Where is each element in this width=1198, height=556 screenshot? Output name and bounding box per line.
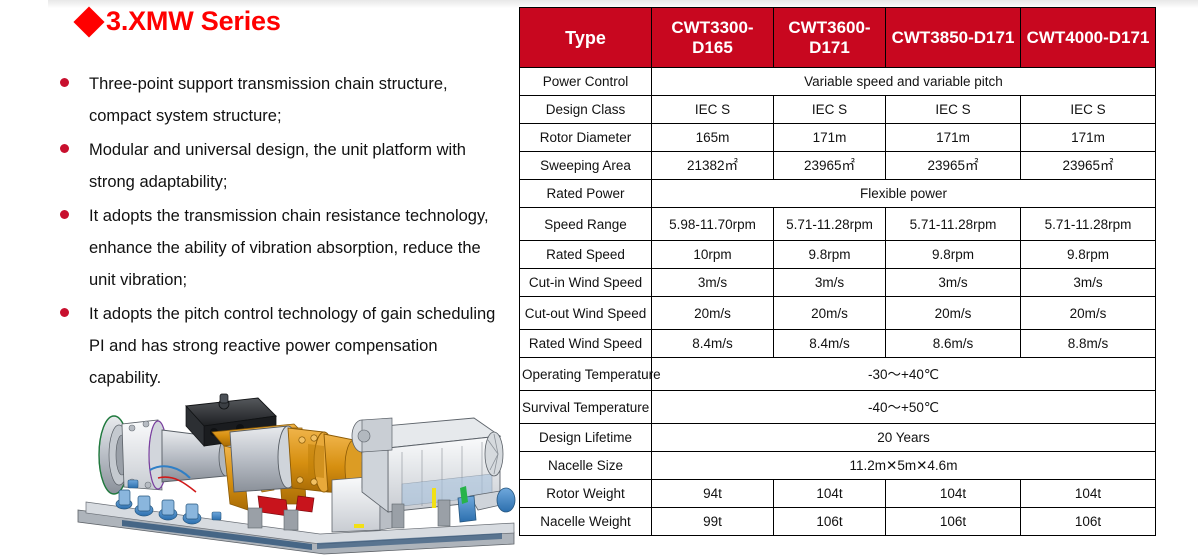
table-row: Rotor Weight 94t 104t 104t 104t	[520, 480, 1156, 508]
row-label-rated-speed: Rated Speed	[520, 241, 652, 269]
cell: IEC S	[652, 96, 774, 124]
cell: 171m	[774, 124, 886, 152]
row-label-cut-out-wind-speed: Cut-out Wind Speed	[520, 297, 652, 330]
row-value-operating-temperature: -30～+40℃	[652, 358, 1156, 391]
cell: 104t	[886, 480, 1021, 508]
row-label-survival-temperature: Survival Temperature	[520, 391, 652, 424]
cell: IEC S	[774, 96, 886, 124]
cell: 8.4m/s	[774, 330, 886, 358]
row-value-power-control: Variable speed and variable pitch	[652, 68, 1156, 96]
cell: 20m/s	[1021, 297, 1156, 330]
table-row: Rated Wind Speed 8.4m/s 8.4m/s 8.6m/s 8.…	[520, 330, 1156, 358]
list-item-label: It adopts the pitch control technology o…	[89, 298, 504, 394]
cell: 20m/s	[886, 297, 1021, 330]
row-label-nacelle-weight: Nacelle Weight	[520, 508, 652, 536]
cell: 8.6m/s	[886, 330, 1021, 358]
column-header-cwt3600: CWT3600-D171	[774, 8, 886, 68]
cell: 104t	[774, 480, 886, 508]
cell: 165m	[652, 124, 774, 152]
cell: 171m	[886, 124, 1021, 152]
list-item: Three-point support transmission chain s…	[60, 68, 510, 132]
cell: 9.8rpm	[886, 241, 1021, 269]
cell: 3m/s	[886, 269, 1021, 297]
left-content-panel: 3.XMW Series Three-point support transmi…	[0, 0, 516, 556]
row-value-nacelle-size: 11.2m✕5m✕4.6m	[652, 452, 1156, 480]
slide-root: 3.XMW Series Three-point support transmi…	[0, 0, 1198, 556]
table-row: Nacelle Weight 99t 106t 106t 106t	[520, 508, 1156, 536]
table-row: Power Control Variable speed and variabl…	[520, 68, 1156, 96]
list-item-label: It adopts the transmission chain resista…	[89, 200, 504, 296]
column-header-cwt3850: CWT3850-D171	[886, 8, 1021, 68]
table-row: Cut-out Wind Speed 20m/s 20m/s 20m/s 20m…	[520, 297, 1156, 330]
table-row: Operating Temperature -30～+40℃	[520, 358, 1156, 391]
diamond-bullet-icon	[73, 6, 104, 37]
specification-table-wrapper: Type CWT3300-D165 CWT3600-D171 CWT3850-D…	[519, 7, 1155, 536]
cell: 5.71-11.28rpm	[774, 208, 886, 241]
cell: 99t	[652, 508, 774, 536]
table-row: Survival Temperature -40～+50℃	[520, 391, 1156, 424]
table-header-row: Type CWT3300-D165 CWT3600-D171 CWT3850-D…	[520, 8, 1156, 68]
column-header-cwt3300: CWT3300-D165	[652, 8, 774, 68]
cell: 104t	[1021, 480, 1156, 508]
bullet-dot-icon	[60, 210, 69, 219]
list-item: It adopts the pitch control technology o…	[60, 298, 510, 394]
page-title: 3.XMW Series	[78, 8, 281, 35]
table-row: Rotor Diameter 165m 171m 171m 171m	[520, 124, 1156, 152]
table-row: Rated Speed 10rpm 9.8rpm 9.8rpm 9.8rpm	[520, 241, 1156, 269]
cell: 23965㎡	[774, 152, 886, 180]
cell: 5.71-11.28rpm	[886, 208, 1021, 241]
cell: IEC S	[886, 96, 1021, 124]
cell: 106t	[1021, 508, 1156, 536]
table-row: Cut-in Wind Speed 3m/s 3m/s 3m/s 3m/s	[520, 269, 1156, 297]
table-row: Design Class IEC S IEC S IEC S IEC S	[520, 96, 1156, 124]
row-label-design-class: Design Class	[520, 96, 652, 124]
cell: 5.71-11.28rpm	[1021, 208, 1156, 241]
row-label-rated-wind-speed: Rated Wind Speed	[520, 330, 652, 358]
row-value-design-lifetime: 20 Years	[652, 424, 1156, 452]
feature-bullet-list: Three-point support transmission chain s…	[60, 68, 510, 396]
cell: 106t	[886, 508, 1021, 536]
cell: 10rpm	[652, 241, 774, 269]
row-label-design-lifetime: Design Lifetime	[520, 424, 652, 452]
row-label-nacelle-size: Nacelle Size	[520, 452, 652, 480]
cell: 5.98-11.70rpm	[652, 208, 774, 241]
cell: 8.8m/s	[1021, 330, 1156, 358]
cell: 94t	[652, 480, 774, 508]
cell: 171m	[1021, 124, 1156, 152]
table-row: Sweeping Area 21382㎡ 23965㎡ 23965㎡ 23965…	[520, 152, 1156, 180]
row-value-survival-temperature: -40～+50℃	[652, 391, 1156, 424]
table-row: Nacelle Size 11.2m✕5m✕4.6m	[520, 452, 1156, 480]
row-label-rotor-diameter: Rotor Diameter	[520, 124, 652, 152]
nacelle-drivetrain-image	[62, 392, 524, 556]
row-label-speed-range: Speed Range	[520, 208, 652, 241]
column-header-cwt4000: CWT4000-D171	[1021, 8, 1156, 68]
cell: 20m/s	[774, 297, 886, 330]
cell: 106t	[774, 508, 886, 536]
row-label-sweeping-area: Sweeping Area	[520, 152, 652, 180]
row-label-operating-temperature: Operating Temperature	[520, 358, 652, 391]
list-item: It adopts the transmission chain resista…	[60, 200, 510, 296]
list-item: Modular and universal design, the unit p…	[60, 134, 510, 198]
cell: 9.8rpm	[774, 241, 886, 269]
cell: 8.4m/s	[652, 330, 774, 358]
table-row: Speed Range 5.98-11.70rpm 5.71-11.28rpm …	[520, 208, 1156, 241]
cell: 3m/s	[774, 269, 886, 297]
cell: 9.8rpm	[1021, 241, 1156, 269]
bullet-dot-icon	[60, 78, 69, 87]
cell: 20m/s	[652, 297, 774, 330]
cell: 23965㎡	[1021, 152, 1156, 180]
page-title-label: 3.XMW Series	[106, 8, 281, 35]
cell: 3m/s	[652, 269, 774, 297]
cell: 23965㎡	[886, 152, 1021, 180]
row-label-power-control: Power Control	[520, 68, 652, 96]
specification-table: Type CWT3300-D165 CWT3600-D171 CWT3850-D…	[519, 7, 1156, 536]
row-value-rated-power: Flexible power	[652, 180, 1156, 208]
row-label-cut-in-wind-speed: Cut-in Wind Speed	[520, 269, 652, 297]
bullet-dot-icon	[60, 308, 69, 317]
bullet-dot-icon	[60, 144, 69, 153]
cell: IEC S	[1021, 96, 1156, 124]
table-row: Rated Power Flexible power	[520, 180, 1156, 208]
row-label-rated-power: Rated Power	[520, 180, 652, 208]
row-label-rotor-weight: Rotor Weight	[520, 480, 652, 508]
list-item-label: Three-point support transmission chain s…	[89, 68, 504, 132]
table-row: Design Lifetime 20 Years	[520, 424, 1156, 452]
column-header-type: Type	[520, 8, 652, 68]
cell: 3m/s	[1021, 269, 1156, 297]
cell: 21382㎡	[652, 152, 774, 180]
list-item-label: Modular and universal design, the unit p…	[89, 134, 504, 198]
